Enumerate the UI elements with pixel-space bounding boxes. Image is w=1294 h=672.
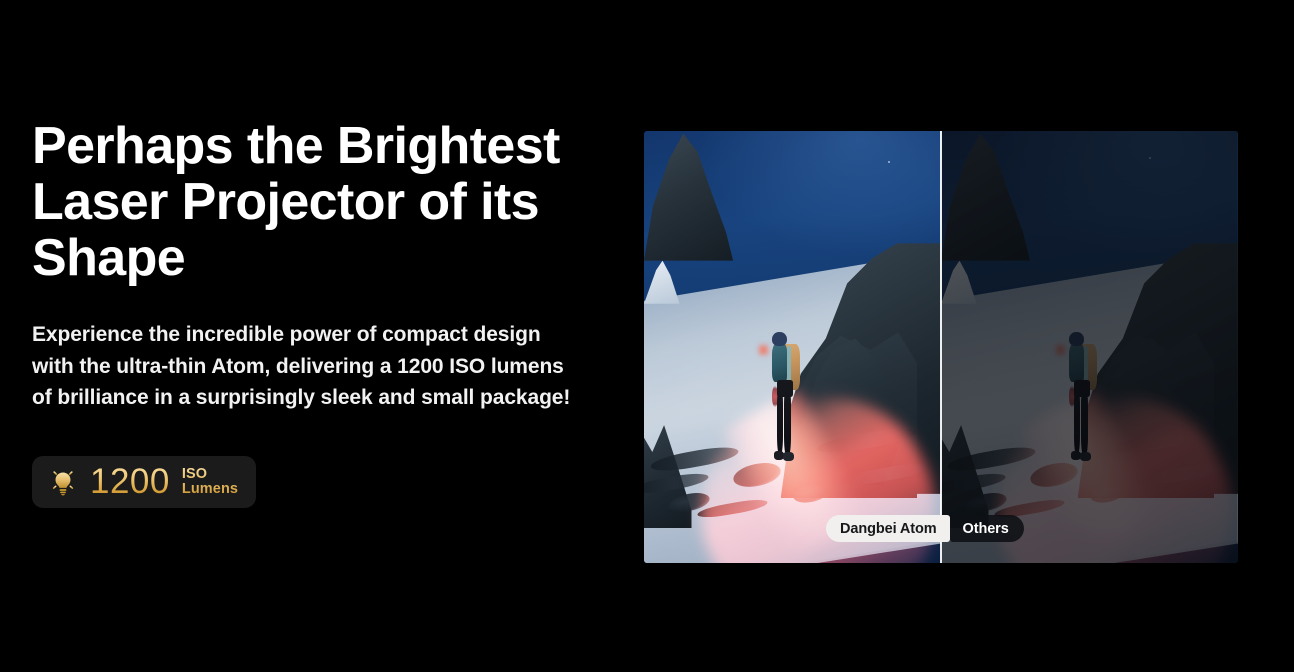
comparison-label-dangbei[interactable]: Dangbei Atom [826,515,950,542]
lumens-unit-line2: Lumens [182,482,238,497]
climber-figure [766,332,808,462]
lumens-unit-line1: ISO [182,467,238,482]
climber-helmet [772,332,786,346]
climber-leg-left [777,391,784,453]
climber-figure [1063,332,1105,462]
climber-boot-right [1080,452,1090,461]
mountain-scene-bright [644,131,941,563]
comparison-half-others [941,131,1238,563]
climber-leg-left [1074,391,1081,453]
climber-jacket [772,344,787,383]
comparison-image[interactable]: Dangbei Atom Others [644,131,1238,563]
star [888,161,890,163]
comparison-half-dangbei [644,131,941,563]
mountain-scene-dim [941,131,1238,563]
lumens-unit: ISO Lumens [182,467,238,497]
hero-copy: Perhaps the Brightest Laser Projector of… [32,118,632,414]
climber-leg-right [1081,391,1088,455]
hero-description: Experience the incredible power of compa… [32,319,607,414]
lumens-badge: 1200 ISO Lumens [32,456,256,508]
climber-leg-right [784,391,791,455]
lightbulb-icon [48,467,78,497]
climber-helmet [1069,332,1083,346]
climber-light-glow [758,344,769,357]
comparison-label-others[interactable]: Others [950,515,1024,542]
climber-boot-right [783,452,793,461]
climber-light-glow [1055,344,1066,357]
climber-jacket [1069,344,1084,383]
comparison-divider[interactable] [940,131,942,563]
page-title: Perhaps the Brightest Laser Projector of… [32,118,632,286]
lumens-value: 1200 [90,464,170,501]
comparison-toggle: Dangbei Atom Others [826,515,1024,542]
hero-section: Perhaps the Brightest Laser Projector of… [0,0,1294,672]
star [1149,157,1151,159]
